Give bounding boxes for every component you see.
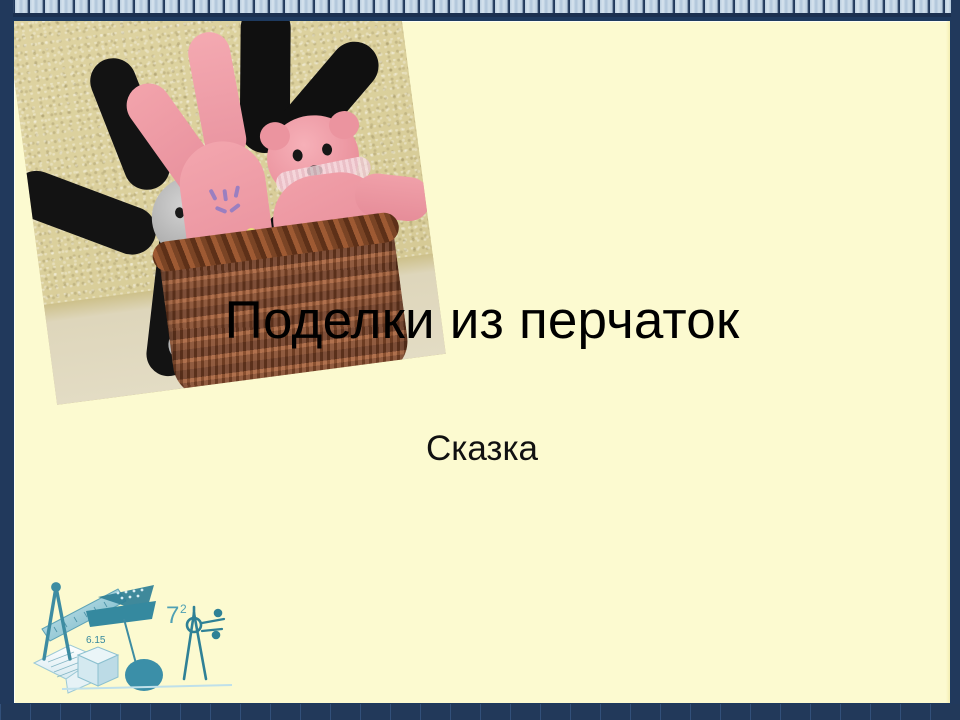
slide-border-right xyxy=(951,0,960,720)
slide-page: Поделки из перчаток Сказка xyxy=(14,21,950,703)
page-subtitle: Сказка xyxy=(14,429,950,469)
eye-icon xyxy=(292,149,303,162)
eye-icon xyxy=(321,143,332,156)
clipart-exponent-label: 2 xyxy=(180,602,187,616)
clipart-power-label: 7 xyxy=(166,602,179,629)
slide-border-left xyxy=(0,0,13,720)
slide-border-bottom xyxy=(0,704,960,720)
clipart-number-label: 6.15 xyxy=(86,635,106,646)
slide-border-top xyxy=(0,0,960,17)
cube-icon: 6.15 xyxy=(78,635,118,686)
divider-compass-icon xyxy=(184,607,224,679)
page-title: Поделки из перчаток xyxy=(14,293,950,349)
slide-canvas: Поделки из перчаток Сказка xyxy=(0,0,960,720)
school-supplies-clipart: 6.15 7 xyxy=(26,567,240,695)
pink-bunny-face-stitches xyxy=(206,184,250,223)
